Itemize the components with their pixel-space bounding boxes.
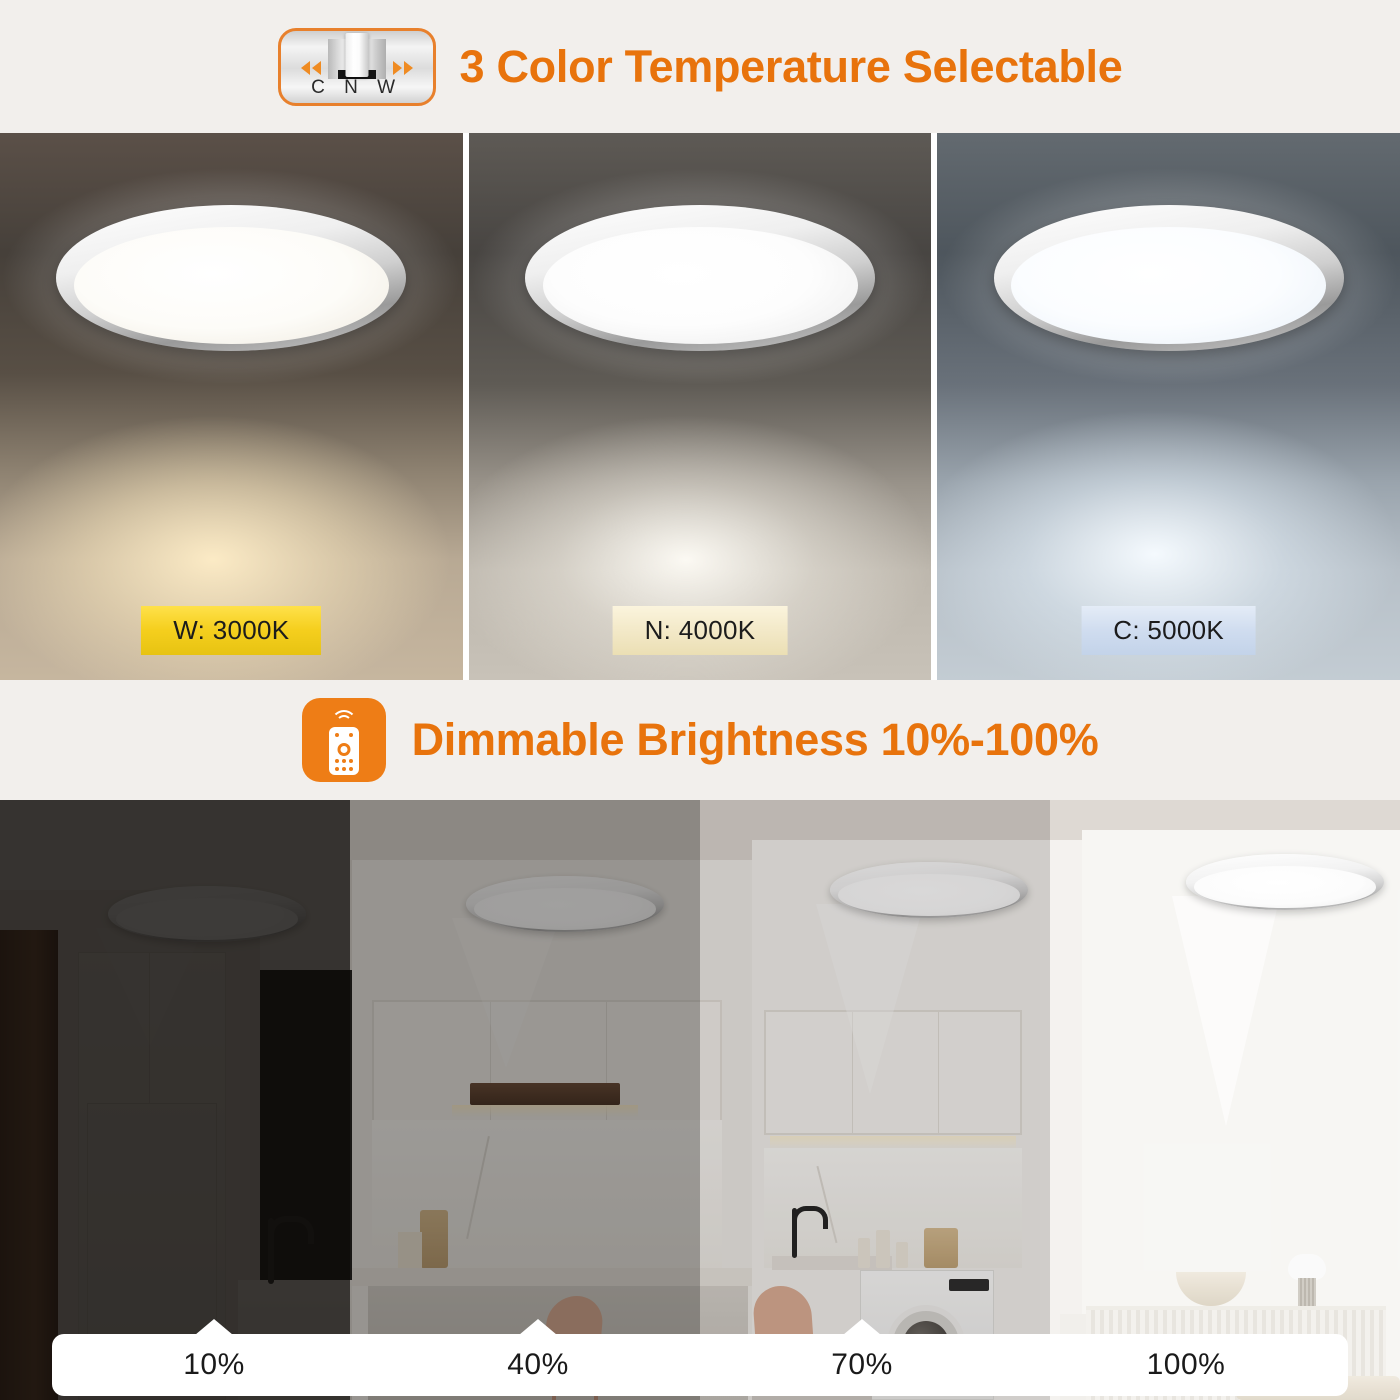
cct-panel-warm: W: 3000K [0, 133, 463, 680]
cct-header-band: C N W 3 Color Temperature Selectable [0, 0, 1400, 133]
cct-panel-neutral: N: 4000K [469, 133, 932, 680]
cct-panel-cool: C: 5000K [937, 133, 1400, 680]
dimming-scene-row [0, 800, 1400, 1400]
ceiling-light-warm [56, 205, 406, 351]
arrow-left-icon [301, 61, 321, 75]
arrow-right-icon [393, 61, 413, 75]
pct-label-100: 100% [1024, 1334, 1348, 1396]
dimming-header-band: Dimmable Brightness 10%-100% [0, 680, 1400, 800]
notch-icon [195, 1319, 233, 1335]
pct-label-40: 40% [376, 1334, 700, 1396]
cct-panel-row: W: 3000K N: 4000K C: 5000K [0, 133, 1400, 680]
notch-icon [843, 1319, 881, 1335]
remote-control-icon [302, 698, 386, 782]
pct-text-10: 10% [183, 1348, 245, 1382]
dim-cell-10 [0, 800, 350, 1400]
pct-text-70: 70% [831, 1348, 893, 1382]
dim-cell-40 [350, 800, 700, 1400]
dim-cell-100 [1050, 800, 1400, 1400]
cnw-letters: C N W [281, 77, 433, 99]
product-infographic: C N W 3 Color Temperature Selectable W: … [0, 0, 1400, 1400]
pct-text-40: 40% [507, 1348, 569, 1382]
pct-label-10: 10% [52, 1334, 376, 1396]
ceiling-light-neutral [525, 205, 875, 351]
dim-cell-70 [700, 800, 1050, 1400]
pct-label-70: 70% [700, 1334, 1024, 1396]
cct-badge-warm: W: 3000K [141, 606, 321, 655]
cct-badge-cool: C: 5000K [1081, 606, 1256, 655]
cnw-switch-icon: C N W [278, 28, 436, 106]
ceiling-light-cool [994, 205, 1344, 351]
cct-badge-neutral: N: 4000K [613, 606, 788, 655]
dimming-title: Dimmable Brightness 10%-100% [412, 714, 1099, 766]
cct-title: 3 Color Temperature Selectable [460, 41, 1123, 93]
notch-icon [519, 1319, 557, 1335]
brightness-percent-banner: 10% 40% 70% 100% [52, 1334, 1348, 1396]
pct-text-100: 100% [1147, 1348, 1226, 1382]
